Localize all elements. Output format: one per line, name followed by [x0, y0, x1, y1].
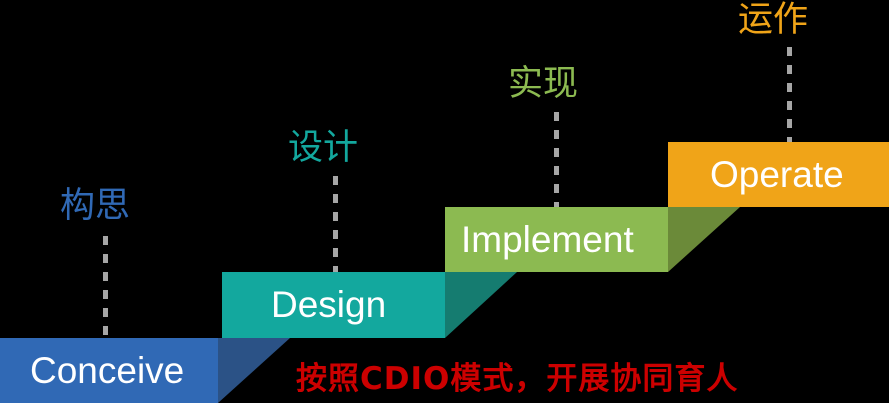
connector-line-implement	[554, 112, 559, 207]
step-shadow-conceive	[218, 338, 290, 403]
connector-line-conceive	[103, 236, 108, 338]
step-label-design-cn: 设计	[288, 131, 358, 166]
step-label-implement-cn: 实现	[508, 67, 578, 102]
diagram-caption: 按照CDIO模式，开展协同育人	[296, 353, 738, 398]
step-shadow-implement	[668, 207, 740, 272]
connector-line-design	[333, 176, 338, 272]
step-label-conceive-en: Conceive	[30, 350, 184, 392]
step-label-operate-cn: 运作	[738, 3, 808, 38]
cdio-staircase-diagram: Conceive 构思 Design 设计 Implement 实现 Opera…	[0, 0, 889, 403]
step-block-design[interactable]: Design	[222, 272, 445, 338]
step-shadow-design	[445, 272, 517, 338]
step-label-implement-en: Implement	[461, 219, 634, 261]
connector-line-operate	[787, 47, 792, 142]
step-block-operate[interactable]: Operate	[668, 142, 889, 207]
step-label-conceive-cn: 构思	[60, 189, 130, 224]
step-block-conceive[interactable]: Conceive	[0, 338, 218, 403]
step-label-design-en: Design	[271, 284, 386, 326]
step-block-implement[interactable]: Implement	[445, 207, 668, 272]
step-label-operate-en: Operate	[710, 154, 844, 196]
